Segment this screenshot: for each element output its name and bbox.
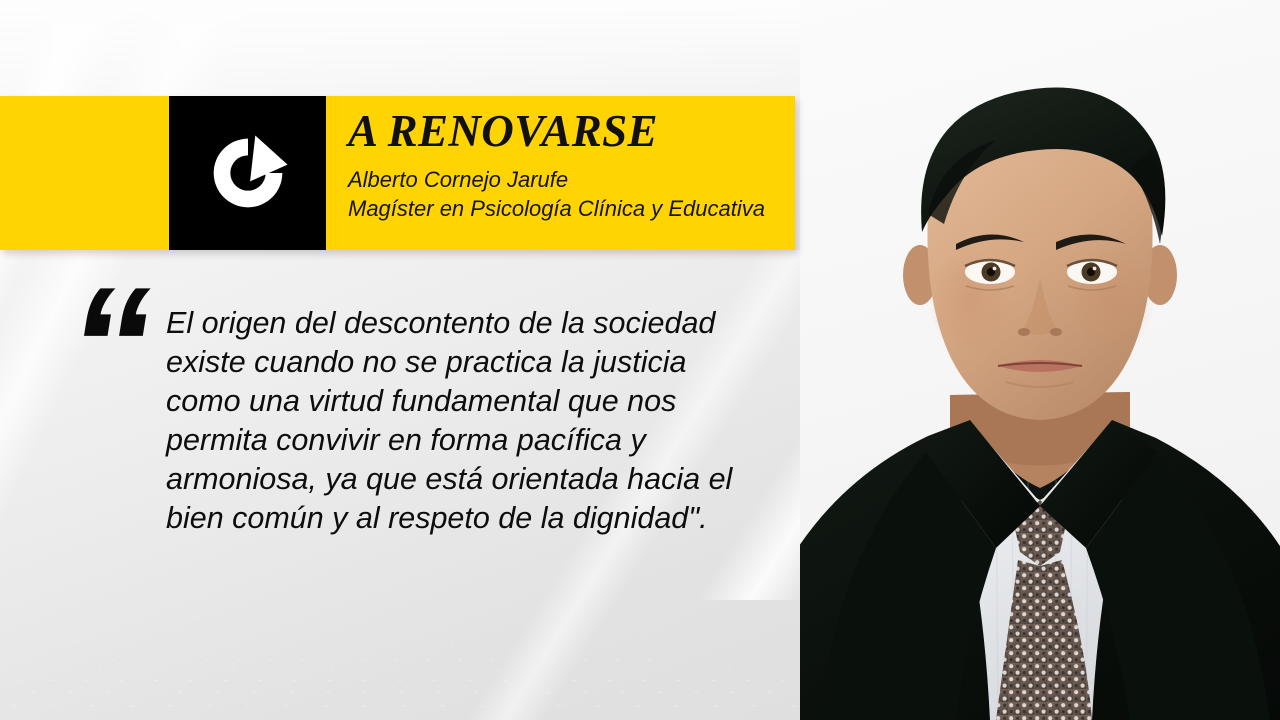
quote-block: “ El origen del descontento de la socied… bbox=[70, 296, 790, 538]
quote-line: armoniosa, ya que está orientada hacia e… bbox=[166, 460, 790, 499]
open-quote-icon: “ bbox=[62, 298, 155, 394]
banner-text-group: A RENOVARSE Alberto Cornejo Jarufe Magís… bbox=[348, 104, 788, 223]
logo-box bbox=[169, 96, 326, 250]
quote-line: bien común y al respeto de la dignidad". bbox=[166, 499, 790, 538]
quote-line: permita convivir en forma pacífica y bbox=[166, 421, 790, 460]
page-title: A RENOVARSE bbox=[348, 104, 788, 158]
portrait-photo bbox=[800, 0, 1280, 720]
quote-line: como una virtud fundamental que nos bbox=[166, 382, 790, 421]
quote-text: El origen del descontento de la sociedad… bbox=[166, 296, 790, 538]
quote-line: El origen del descontento de la sociedad bbox=[166, 304, 790, 343]
portrait-illustration bbox=[800, 0, 1280, 720]
slide-canvas: A RENOVARSE Alberto Cornejo Jarufe Magís… bbox=[0, 0, 1280, 720]
author-name: Alberto Cornejo Jarufe bbox=[348, 165, 788, 194]
circular-arrow-logo-icon bbox=[196, 121, 300, 225]
author-credential: Magíster en Psicología Clínica y Educati… bbox=[348, 194, 788, 223]
quote-line: existe cuando no se practica la justicia bbox=[166, 343, 790, 382]
